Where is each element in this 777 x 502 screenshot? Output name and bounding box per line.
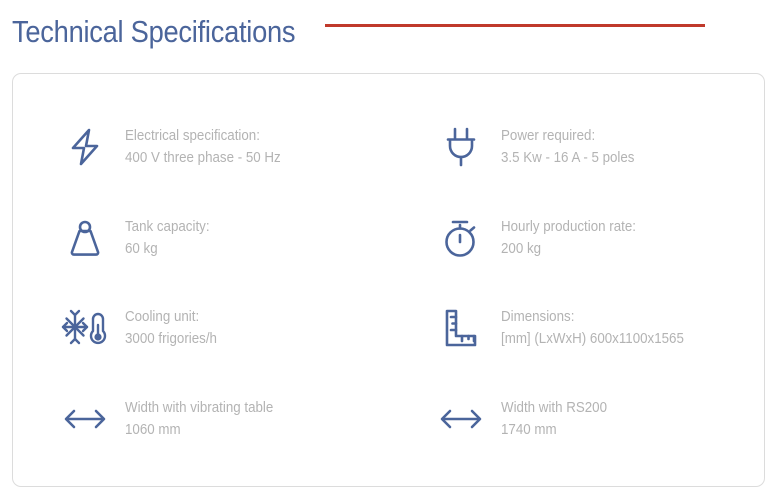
specifications-grid: Electrical specification: 400 V three ph… <box>13 74 764 486</box>
snowflake-thermometer-icon <box>59 302 111 354</box>
spec-item-dimensions: Dimensions: [mm] (LxWxH) 600x1100x1565 <box>389 283 765 374</box>
weight-icon <box>59 212 111 264</box>
title-accent-rule <box>325 24 705 27</box>
ruler-icon <box>435 302 487 354</box>
spec-text: Electrical specification: 400 V three ph… <box>125 125 281 169</box>
horizontal-arrows-icon <box>59 393 111 445</box>
spec-item-cooling-unit: Cooling unit: 3000 frigories/h <box>13 283 389 374</box>
spec-item-hourly-production-rate: Hourly production rate: 200 kg <box>389 193 765 284</box>
spec-value: 3000 frigories/h <box>125 328 217 350</box>
spec-label: Dimensions: <box>501 306 684 328</box>
spec-label: Cooling unit: <box>125 306 217 328</box>
spec-label: Width with RS200 <box>501 397 607 419</box>
spec-label: Width with vibrating table <box>125 397 273 419</box>
spec-text: Width with vibrating table 1060 mm <box>125 397 273 441</box>
technical-specifications-card: Electrical specification: 400 V three ph… <box>12 73 765 487</box>
spec-value: [mm] (LxWxH) 600x1100x1565 <box>501 328 684 350</box>
spec-value: 200 kg <box>501 238 636 260</box>
horizontal-arrows-icon <box>435 393 487 445</box>
stopwatch-icon <box>435 212 487 264</box>
spec-value: 1060 mm <box>125 419 273 441</box>
spec-label: Hourly production rate: <box>501 216 636 238</box>
spec-item-tank-capacity: Tank capacity: 60 kg <box>13 193 389 284</box>
spec-item-electrical-specification: Electrical specification: 400 V three ph… <box>13 102 389 193</box>
spec-label: Tank capacity: <box>125 216 210 238</box>
spec-text: Power required: 3.5 Kw - 16 A - 5 poles <box>501 125 634 169</box>
spec-value: 3.5 Kw - 16 A - 5 poles <box>501 147 634 169</box>
spec-value: 60 kg <box>125 238 210 260</box>
spec-text: Width with RS200 1740 mm <box>501 397 607 441</box>
spec-value: 400 V three phase - 50 Hz <box>125 147 281 169</box>
spec-text: Tank capacity: 60 kg <box>125 216 210 260</box>
page-title: Technical Specifications <box>12 14 295 47</box>
spec-label: Power required: <box>501 125 634 147</box>
power-plug-icon <box>435 121 487 173</box>
page-header: Technical Specifications <box>0 0 777 60</box>
spec-value: 1740 mm <box>501 419 607 441</box>
spec-item-power-required: Power required: 3.5 Kw - 16 A - 5 poles <box>389 102 765 193</box>
spec-item-width-rs200: Width with RS200 1740 mm <box>389 374 765 465</box>
lightning-bolt-icon <box>59 121 111 173</box>
spec-text: Hourly production rate: 200 kg <box>501 216 636 260</box>
spec-label: Electrical specification: <box>125 125 281 147</box>
spec-text: Dimensions: [mm] (LxWxH) 600x1100x1565 <box>501 306 684 350</box>
spec-item-width-vibrating-table: Width with vibrating table 1060 mm <box>13 374 389 465</box>
spec-text: Cooling unit: 3000 frigories/h <box>125 306 217 350</box>
